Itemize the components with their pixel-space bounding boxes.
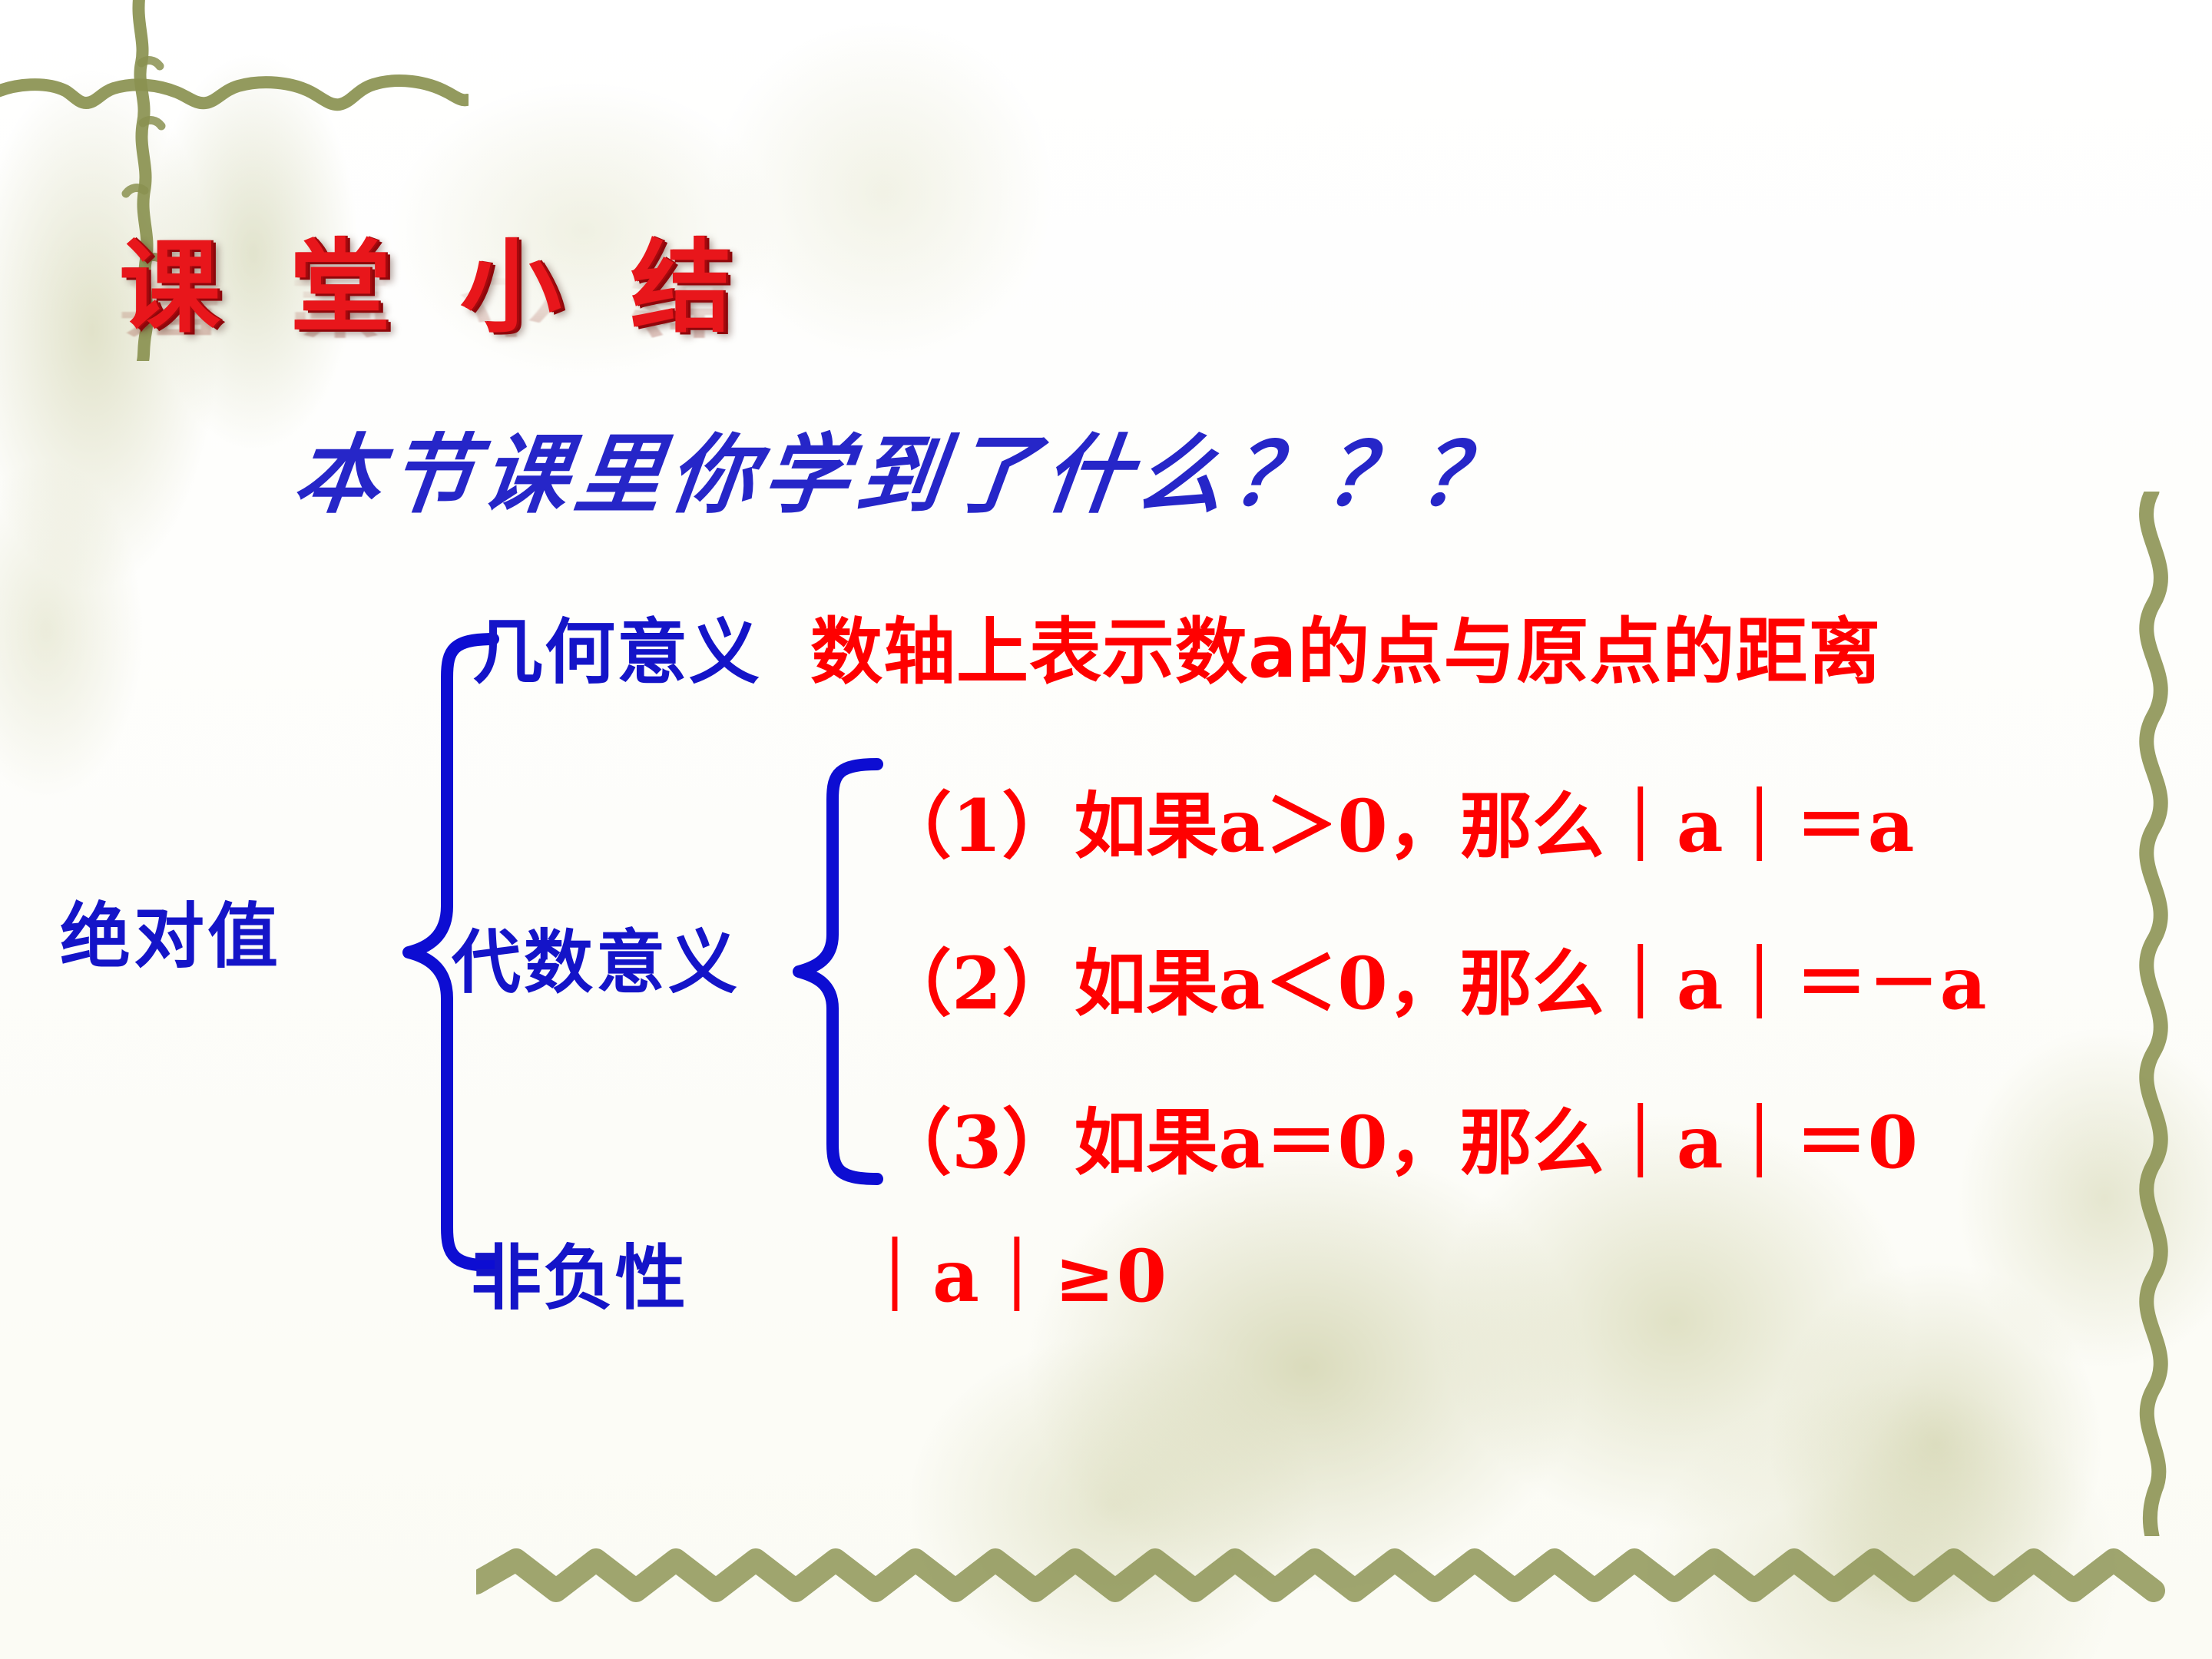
page-subtitle: 本节课里你学到了什么？？？ — [288, 406, 1522, 530]
inner-brace-icon — [776, 757, 891, 1187]
page-title-text: 课 堂 小 结 — [119, 206, 749, 353]
branch-label-geometric: 几何意义 — [472, 595, 761, 697]
concept-root-label: 绝对值 — [60, 879, 281, 982]
branch-content-nonnegative: ｜a｜≥0 — [859, 1218, 1168, 1323]
algebraic-rule-2: （2）如果a＜0，那么｜a｜＝－a — [879, 926, 1987, 1030]
bamboo-branch-horizontal-icon — [0, 46, 469, 131]
algebraic-rule-3: （3）如果a＝0，那么｜a｜＝0 — [879, 1084, 1918, 1189]
branch-content-geometric: 数轴上表示数a的点与原点的距离 — [810, 594, 1881, 698]
branch-label-nonnegative: 非负性 — [471, 1221, 687, 1323]
slide-canvas: 课 堂 小 结 课 堂 小 结 本节课里你学到了什么？？？ 绝对值 几何意义 数… — [0, 0, 2212, 1659]
branch-label-algebraic: 代数意义 — [452, 906, 740, 1006]
wavy-vine-vertical-icon — [2104, 492, 2197, 1536]
algebraic-rule-1: （1）如果a＞0，那么｜a｜＝a — [879, 768, 1915, 873]
page-title: 课 堂 小 结 课 堂 小 结 — [119, 206, 749, 436]
zigzag-ribbon-horizontal-icon — [476, 1517, 2166, 1632]
